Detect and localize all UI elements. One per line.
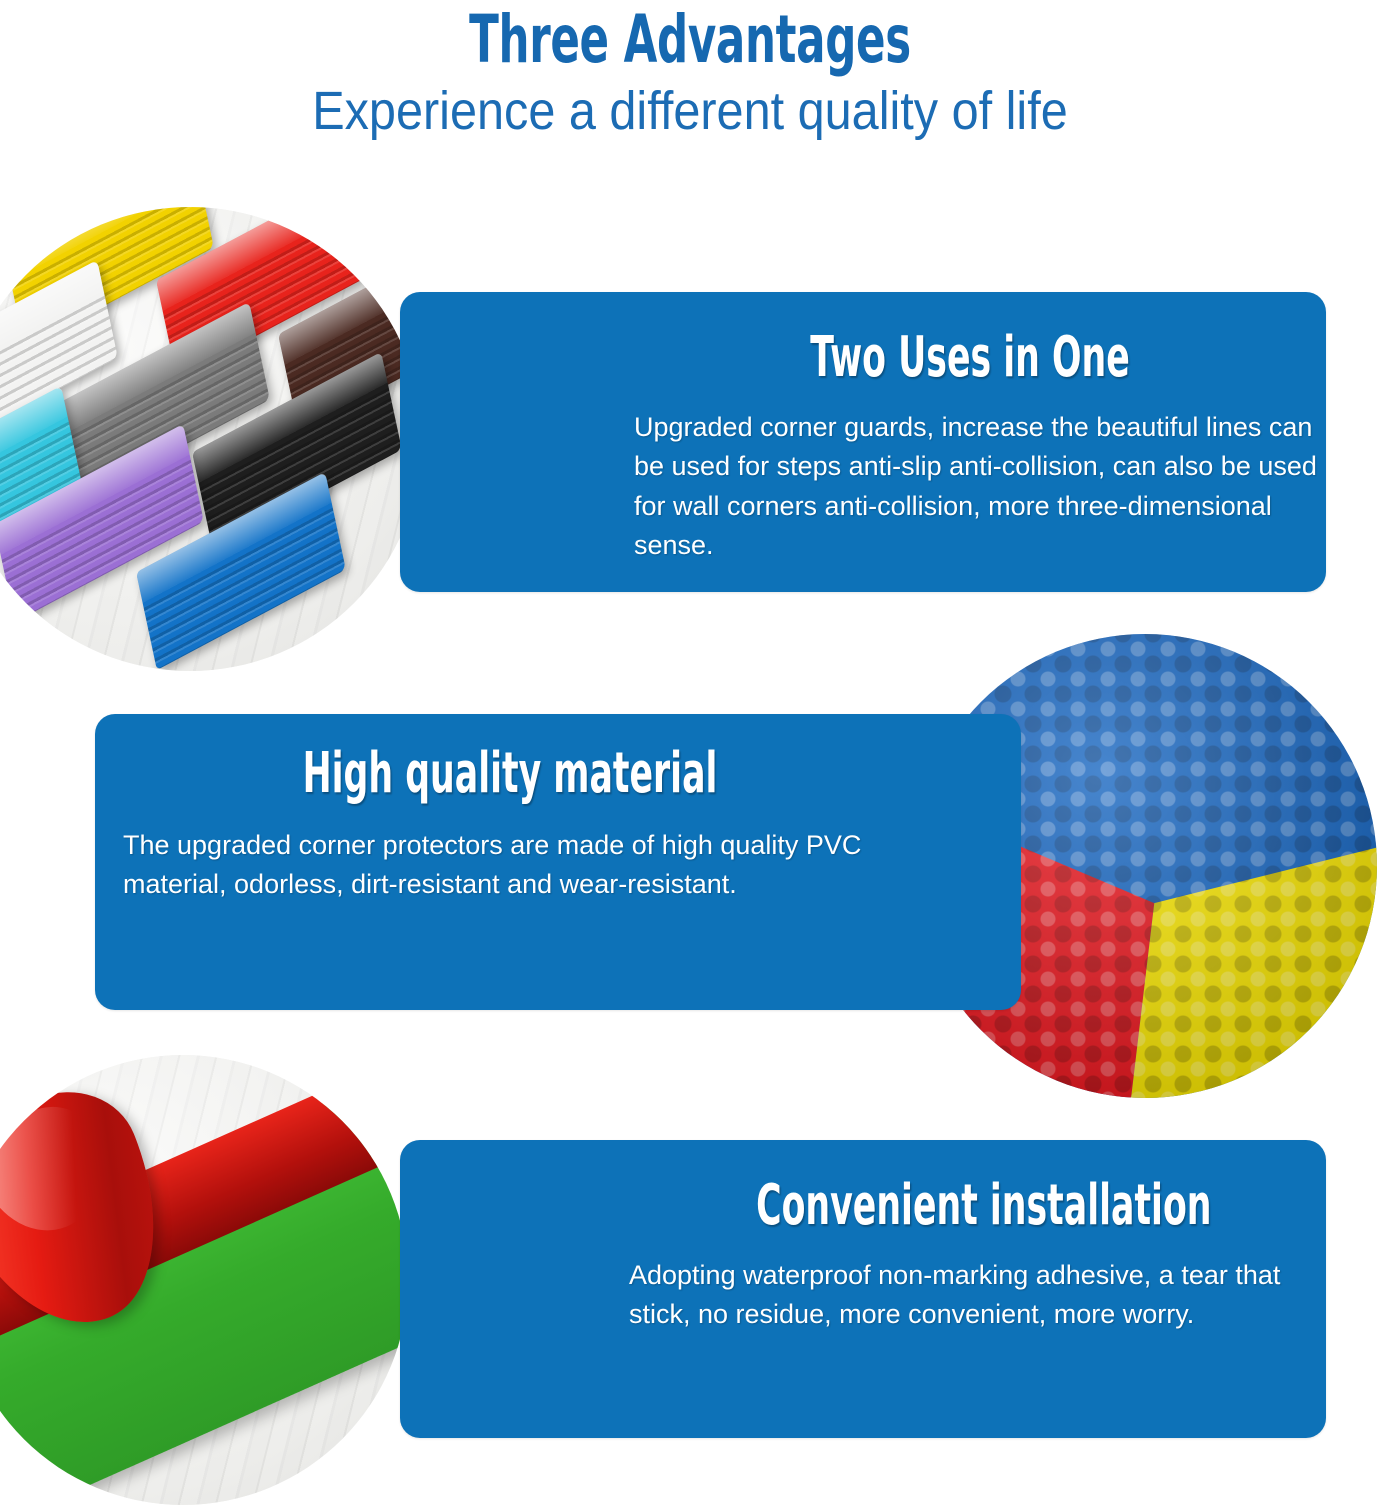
advantage-1-photo: [0, 207, 422, 671]
page-title: Three Advantages: [235, 0, 1146, 75]
advantage-2-content: High quality material The upgraded corne…: [115, 714, 905, 1010]
page-header: Three Advantages Experience a different …: [0, 0, 1380, 139]
advantage-1-body: Upgraded corner guards, increase the bea…: [630, 386, 1324, 566]
advantage-3-heading: Convenient installation: [756, 1140, 1184, 1234]
advantage-3-photo: [0, 1055, 408, 1505]
advantage-2-heading: High quality material: [265, 714, 755, 802]
advantage-card-2: High quality material The upgraded corne…: [95, 714, 1021, 1010]
page-subtitle: Experience a different quality of life: [69, 75, 1311, 140]
advantage-1-heading: Two Uses in One: [759, 292, 1181, 386]
advantage-1-content: Two Uses in One Upgraded corner guards, …: [630, 292, 1310, 592]
advantage-card-1: Two Uses in One Upgraded corner guards, …: [400, 292, 1326, 592]
advantage-card-3: Convenient installation Adopting waterpr…: [400, 1140, 1326, 1438]
advantage-3-body: Adopting waterproof non-marking adhesive…: [625, 1234, 1319, 1335]
corner-guard-group: [0, 207, 422, 671]
advantage-3-content: Convenient installation Adopting waterpr…: [625, 1140, 1315, 1438]
advantage-2-body: The upgraded corner protectors are made …: [115, 802, 903, 905]
